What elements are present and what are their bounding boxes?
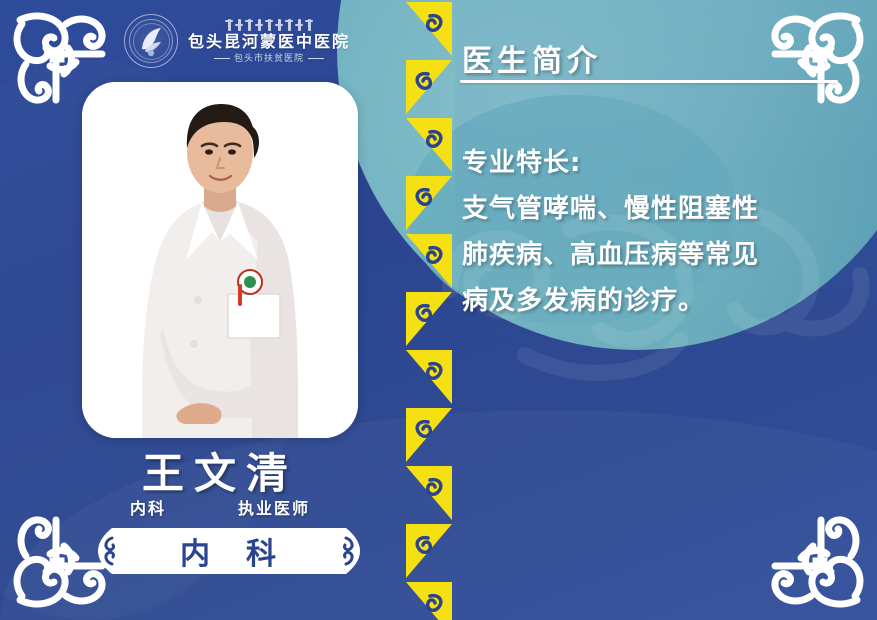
hospital-logo-row: 包头昆河蒙医中医院 包头市扶贫医院 — [124, 14, 350, 68]
corner-ornament-bottom-right — [767, 512, 871, 616]
hospital-name-block: 包头昆河蒙医中医院 包头市扶贫医院 — [188, 19, 350, 63]
hospital-name: 包头昆河蒙医中医院 — [188, 34, 350, 50]
title-underline — [460, 80, 838, 83]
doctor-specialty-text: 专业特长: 支气管哮喘、慢性阻塞性 肺疾病、高血压病等常见 病及多发病的诊疗。 — [462, 140, 852, 324]
department-badge: 内 科 — [98, 528, 360, 574]
badge-text-row: 内 科 — [112, 528, 346, 574]
doctor-qualification-label: 执业医师 — [238, 495, 310, 519]
doctor-name: 王文清 — [0, 440, 440, 501]
hospital-seal-icon — [124, 14, 178, 68]
mongolian-divider-band — [400, 0, 458, 620]
specialty-line-2: 肺疾病、高血压病等常见 — [462, 232, 852, 278]
subtitle-dash-left — [214, 58, 230, 59]
hospital-subtitle-row: 包头市扶贫医院 — [214, 54, 324, 63]
specialty-line-3: 病及多发病的诊疗。 — [462, 278, 852, 324]
subtitle-dash-right — [308, 58, 324, 59]
specialty-line-1: 支气管哮喘、慢性阻塞性 — [462, 186, 852, 232]
badge-char-2: 科 — [246, 529, 278, 573]
corner-ornament-bottom-left — [6, 512, 110, 616]
doctor-profile-card: 包头昆河蒙医中医院 包头市扶贫医院 — [0, 0, 877, 620]
doctor-department-label: 内科 — [130, 495, 166, 519]
specialty-line-0: 专业特长: — [462, 140, 852, 186]
mongolian-script-line — [228, 19, 311, 31]
badge-char-1: 内 — [180, 529, 212, 573]
page-title: 医生简介 — [462, 36, 602, 80]
hospital-subtitle: 包头市扶贫医院 — [234, 54, 304, 63]
doctor-photo — [82, 82, 358, 438]
doctor-meta-row: 内科 执业医师 — [0, 495, 440, 519]
corner-ornament-top-right — [767, 4, 871, 108]
